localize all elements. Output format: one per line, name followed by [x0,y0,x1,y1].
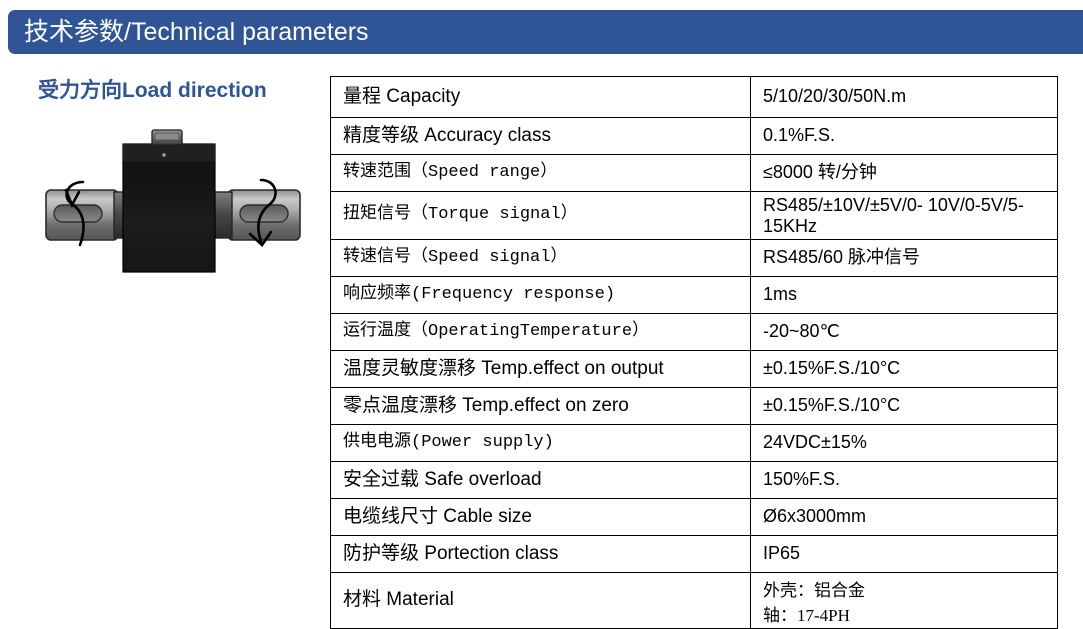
table-row: 供电电源(Power supply) 24VDC±15% [331,425,1058,462]
param-speed-range: 转速范围（Speed range） [331,155,751,192]
param-cable-size: 电缆线尺寸 Cable size [331,499,751,536]
table-row: 零点温度漂移 Temp.effect on zero ±0.15%F.S./10… [331,388,1058,425]
table-row: 扭矩信号（Torque signal） RS485/±10V/±5V/0- 10… [331,192,1058,240]
value-torque-signal: RS485/±10V/±5V/0- 10V/0-5V/5-15KHz [751,192,1058,240]
param-accuracy-class: 精度等级 Accuracy class [331,118,751,155]
page-title: 技术参数/Technical parameters [24,20,369,45]
value-accuracy-class: 0.1%F.S. [751,118,1058,155]
value-operating-temperature: -20~80℃ [751,314,1058,351]
value-material: 外壳：铝合金 轴：17-4PH [751,573,1058,629]
value-capacity: 5/10/20/30/50N.m [751,77,1058,118]
value-material-shaft: 轴：17-4PH [763,601,1057,626]
param-temp-effect-on-output: 温度灵敏度漂移 Temp.effect on output [331,351,751,388]
value-material-housing: 外壳：铝合金 [763,576,1057,601]
value-speed-signal: RS485/60 脉冲信号 [751,240,1058,277]
load-direction-label: 受力方向Load direction [38,74,267,104]
table-row: 量程 Capacity 5/10/20/30/50N.m [331,77,1058,118]
table-row: 温度灵敏度漂移 Temp.effect on output ±0.15%F.S.… [331,351,1058,388]
value-temp-effect-on-output: ±0.15%F.S./10°C [751,351,1058,388]
section-header-banner: 技术参数/Technical parameters [8,10,1083,54]
param-capacity: 量程 Capacity [331,77,751,118]
value-safe-overload: 150%F.S. [751,462,1058,499]
table-row: 电缆线尺寸 Cable size Ø6x3000mm [331,499,1058,536]
table-row: 防护等级 Portection class IP65 [331,536,1058,573]
param-safe-overload: 安全过载 Safe overload [331,462,751,499]
param-protection-class: 防护等级 Portection class [331,536,751,573]
technical-parameters-table: 量程 Capacity 5/10/20/30/50N.m 精度等级 Accura… [330,76,1058,629]
table-row: 精度等级 Accuracy class 0.1%F.S. [331,118,1058,155]
param-speed-signal: 转速信号（Speed signal） [331,240,751,277]
table-row: 安全过载 Safe overload 150%F.S. [331,462,1058,499]
torque-sensor-illustration [28,112,318,302]
param-power-supply: 供电电源(Power supply) [331,425,751,462]
table-row: 转速信号（Speed signal） RS485/60 脉冲信号 [331,240,1058,277]
param-material: 材料 Material [331,573,751,629]
param-frequency-response: 响应频率(Frequency response) [331,277,751,314]
table-row: 材料 Material 外壳：铝合金 轴：17-4PH [331,573,1058,629]
value-protection-class: IP65 [751,536,1058,573]
table-row: 转速范围（Speed range） ≤8000 转/分钟 [331,155,1058,192]
value-frequency-response: 1ms [751,277,1058,314]
param-torque-signal: 扭矩信号（Torque signal） [331,192,751,240]
value-power-supply: 24VDC±15% [751,425,1058,462]
value-cable-size: Ø6x3000mm [751,499,1058,536]
load-direction-panel: 受力方向Load direction [0,70,330,310]
param-temp-effect-on-zero: 零点温度漂移 Temp.effect on zero [331,388,751,425]
value-temp-effect-on-zero: ±0.15%F.S./10°C [751,388,1058,425]
sensor-body [123,144,215,272]
right-shaft-group [210,190,300,240]
value-speed-range: ≤8000 转/分钟 [751,155,1058,192]
param-operating-temperature: 运行温度（OperatingTemperature） [331,314,751,351]
table-row: 响应频率(Frequency response) 1ms [331,277,1058,314]
cable-connector [152,130,182,145]
table-row: 运行温度（OperatingTemperature） -20~80℃ [331,314,1058,351]
